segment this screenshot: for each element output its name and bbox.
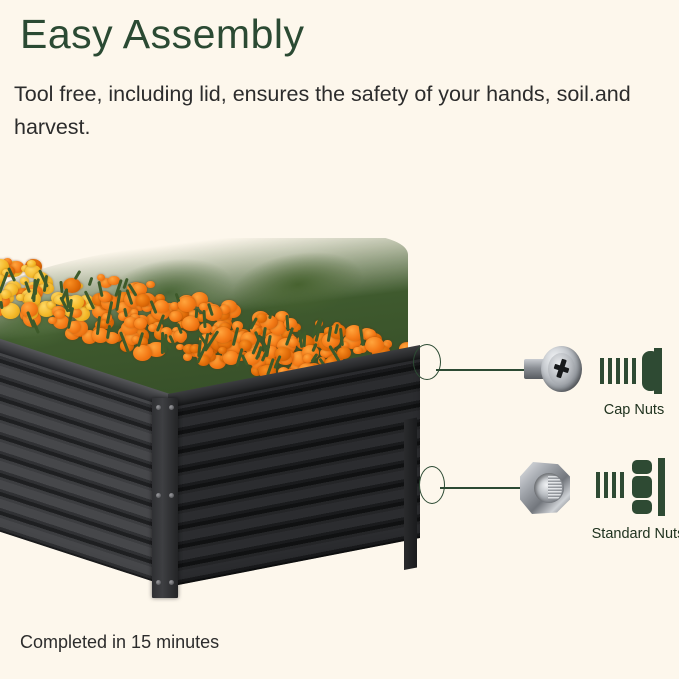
thread-bar xyxy=(596,472,600,498)
callout-label-standard-nuts: Standard Nuts xyxy=(568,526,679,542)
marigold-bloom xyxy=(48,317,57,324)
corner-screw xyxy=(169,580,174,585)
completion-note: Completed in 15 minutes xyxy=(20,632,219,653)
marigold-bloom xyxy=(136,294,150,306)
leaf-spike xyxy=(202,309,206,327)
thread-bar xyxy=(632,358,636,384)
callout-label-cap-nuts: Cap Nuts xyxy=(584,402,679,418)
hex-nut-icon xyxy=(518,462,574,514)
marigold-bloom xyxy=(337,347,351,359)
leaf-spike xyxy=(163,334,167,353)
corner-screw xyxy=(156,405,161,410)
leader-line-standard-nut xyxy=(440,487,522,489)
page-title: Easy Assembly xyxy=(20,13,305,56)
marigold-bloom xyxy=(97,274,105,281)
cap-nut-flange xyxy=(654,348,662,394)
corner-screw xyxy=(169,493,174,498)
garden-bed-scene xyxy=(0,230,460,620)
washer-plate xyxy=(658,458,665,516)
bed-edge-post-right xyxy=(404,417,417,570)
corner-screw xyxy=(169,405,174,410)
thread-bar xyxy=(604,472,608,498)
thread-bar xyxy=(620,472,624,498)
metal-raised-bed xyxy=(0,380,460,620)
standard-nut-schematic-icon xyxy=(596,460,674,516)
marigold-bloom xyxy=(133,345,152,361)
hex-nut-segment xyxy=(632,500,652,514)
marigold-bloom xyxy=(183,353,192,361)
leader-line-cap-nut xyxy=(436,369,530,371)
cap-nut-schematic-icon xyxy=(600,348,672,394)
thread-bar xyxy=(624,358,628,384)
thread-bar xyxy=(600,358,604,384)
phillips-bolt-icon xyxy=(524,346,582,392)
corner-screw xyxy=(156,580,161,585)
marigold-bloom xyxy=(146,281,154,288)
page-subtitle: Tool free, including lid, ensures the sa… xyxy=(14,78,644,145)
hex-nut-segment xyxy=(632,476,652,498)
corner-screw xyxy=(156,493,161,498)
marigold-bloom xyxy=(353,347,362,355)
marigold-bloom xyxy=(365,337,384,353)
thread-bar xyxy=(616,358,620,384)
hex-nut-threads xyxy=(548,476,562,500)
thread-bar xyxy=(608,358,612,384)
marigold-bloom xyxy=(134,318,147,329)
bed-corner-post xyxy=(152,398,178,598)
thread-bar xyxy=(612,472,616,498)
highlight-marker-standard-nut xyxy=(419,466,445,504)
marigold-bloom xyxy=(169,311,182,322)
hex-nut-segment xyxy=(632,460,652,474)
highlight-marker-cap-nut xyxy=(413,344,441,380)
product-infographic: Easy Assembly Tool free, including lid, … xyxy=(0,0,679,679)
